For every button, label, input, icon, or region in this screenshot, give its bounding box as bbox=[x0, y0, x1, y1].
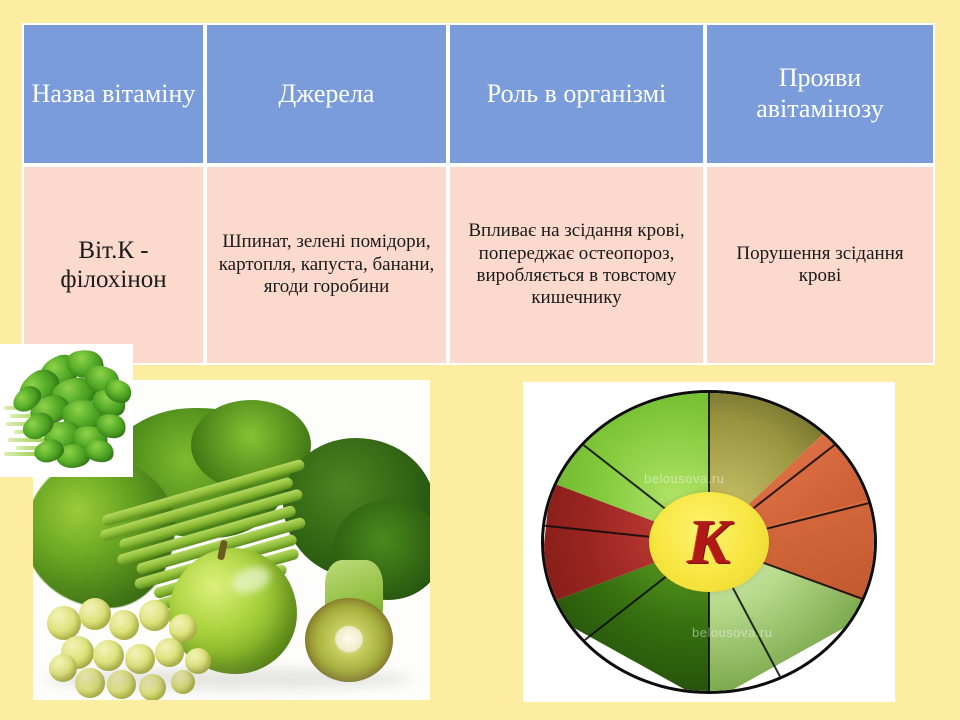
cell-sources: Шпинат, зелені помідори, картопля, капус… bbox=[205, 165, 448, 365]
table-body: Віт.К - філохінон Шпинат, зелені помідор… bbox=[22, 165, 935, 365]
vitamin-k-food-wheel: belousova.ru belousova.ru K bbox=[523, 382, 895, 702]
table-row: Віт.К - філохінон Шпинат, зелені помідор… bbox=[22, 165, 935, 365]
vitamin-k-badge: K bbox=[649, 492, 769, 592]
table-header-role: Роль в організмі bbox=[448, 23, 705, 165]
table-header-vitamin-name: Назва вітаміну bbox=[22, 23, 205, 165]
photo-shadow bbox=[43, 668, 413, 690]
wheel-circle: belousova.ru belousova.ru K bbox=[541, 390, 877, 694]
table-row: Назва вітаміну Джерела Роль в організмі … bbox=[22, 23, 935, 165]
table-header-sources: Джерела bbox=[205, 23, 448, 165]
table-header-row: Назва вітаміну Джерела Роль в організмі … bbox=[22, 23, 935, 165]
table-header-deficiency: Прояви авітамінозу bbox=[705, 23, 935, 165]
spinach-leaves-photo bbox=[0, 344, 133, 477]
cell-role: Впливає на зсідання крові, попереджає ос… bbox=[448, 165, 705, 365]
cell-vitamin-name: Віт.К - філохінон bbox=[22, 165, 205, 365]
vitamin-k-letter: K bbox=[688, 510, 731, 574]
slide-canvas: Назва вітаміну Джерела Роль в організмі … bbox=[0, 0, 960, 720]
vitamin-table: Назва вітаміну Джерела Роль в організмі … bbox=[22, 23, 935, 365]
kiwi-core-icon bbox=[335, 626, 363, 652]
cell-deficiency: Порушення зсідання крові bbox=[705, 165, 935, 365]
